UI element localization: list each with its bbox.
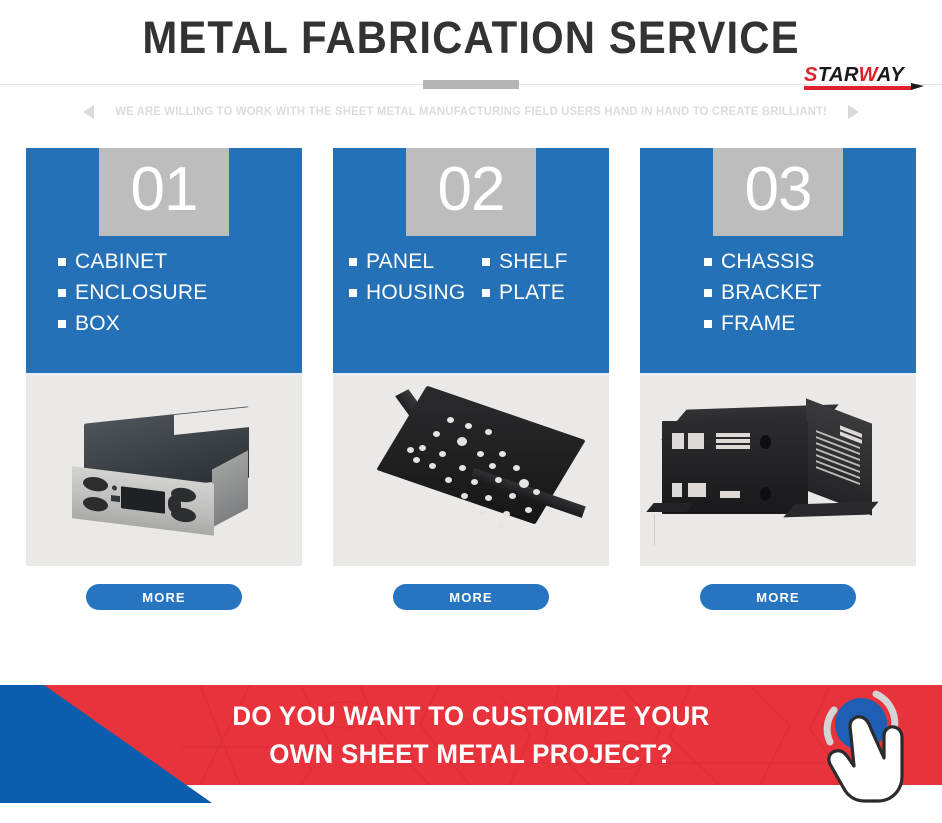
list-item: BRACKET <box>704 281 916 305</box>
list-item: BOX <box>58 312 302 336</box>
marquee-text: WE ARE WILLING TO WORK WITH THE SHEET ME… <box>115 106 827 118</box>
panel-hole <box>461 493 468 499</box>
square-bullet-icon <box>482 289 490 297</box>
panel-hole <box>407 447 414 453</box>
panel-hole <box>525 507 532 513</box>
panel-hole <box>413 457 420 463</box>
panel-hole <box>439 451 446 457</box>
banner-headline: DO YOU WANT TO CUSTOMIZE YOUR OWN SHEET … <box>19 697 923 773</box>
card-cta-02: MORE <box>333 566 609 610</box>
more-button-02[interactable]: MORE <box>393 584 549 610</box>
brand-wordmark: STARWAY <box>804 65 904 85</box>
marquee-bar: WE ARE WILLING TO WORK WITH THE SHEET ME… <box>0 96 942 128</box>
panel-hole <box>471 479 478 485</box>
panel-hole <box>485 429 492 435</box>
cta-banner[interactable]: DO YOU WANT TO CUSTOMIZE YOUR OWN SHEET … <box>0 668 942 823</box>
panel-slot <box>121 486 165 513</box>
list-item-label: CABINET <box>75 250 167 274</box>
product-image-02 <box>333 373 609 566</box>
square-bullet-icon <box>58 258 66 266</box>
list-item: FRAME <box>704 312 916 336</box>
starway-logo: STARWAY <box>804 65 912 90</box>
card-header-03: 03 CHASSIS BRACKET FRAME <box>640 148 916 373</box>
list-item-label: BOX <box>75 312 120 336</box>
divider-tab <box>423 80 519 89</box>
list-item: CABINET <box>58 250 302 274</box>
panel-hole <box>433 431 440 437</box>
header-divider <box>0 80 942 92</box>
page-header: METAL FABRICATION SERVICE STARWAY <box>0 0 942 96</box>
square-bullet-icon <box>704 320 712 328</box>
chassis-vent-slot <box>716 445 750 449</box>
square-bullet-icon <box>349 289 357 297</box>
panel-hole <box>533 489 540 495</box>
brand-letter-w: W <box>859 64 877 86</box>
brand-letter-s: S <box>804 64 818 86</box>
panel-hole <box>477 451 484 457</box>
product-image-03 <box>640 373 916 566</box>
card-number-02: 02 <box>438 159 505 221</box>
card-number-box-02: 02 <box>406 148 536 236</box>
banner-headline-line2: OWN SHEET METAL PROJECT? <box>19 735 923 773</box>
panel-hole <box>445 477 452 483</box>
chassis-side <box>806 398 872 515</box>
chassis-wire <box>654 515 655 545</box>
card-item-list-03: CHASSIS BRACKET FRAME <box>640 236 916 336</box>
product-card-03: 03 CHASSIS BRACKET FRAME <box>640 148 916 610</box>
list-item: PANEL <box>349 250 476 274</box>
chassis-hole <box>760 487 771 501</box>
more-button-01[interactable]: MORE <box>86 584 242 610</box>
card-number-box-01: 01 <box>99 148 229 236</box>
list-item: HOUSING <box>349 281 476 305</box>
card-number-01: 01 <box>131 159 198 221</box>
card-header-01: 01 CABINET ENCLOSURE BOX <box>26 148 302 373</box>
panel-hole <box>499 451 506 457</box>
chassis-port <box>672 483 682 497</box>
panel-hole <box>519 479 529 488</box>
list-item-label: SHELF <box>499 250 568 274</box>
panel-hole <box>489 463 496 469</box>
product-image-01 <box>26 373 302 566</box>
list-item-label: FRAME <box>721 312 796 336</box>
panel-oval-hole <box>168 495 181 514</box>
page-title: METAL FABRICATION SERVICE <box>33 0 909 68</box>
panel-hole <box>485 495 492 501</box>
product-card-02: 02 PANEL SHELF HOUSING PLATE <box>333 148 609 610</box>
list-item: ENCLOSURE <box>58 281 302 305</box>
panel-dot <box>112 485 117 491</box>
card-cta-01: MORE <box>26 566 302 610</box>
square-bullet-icon <box>58 320 66 328</box>
list-item-label: ENCLOSURE <box>75 281 208 305</box>
square-bullet-icon <box>482 258 490 266</box>
panel-hole <box>509 493 516 499</box>
brand-letters-tar: TAR <box>818 64 859 86</box>
list-item-label: PLATE <box>499 281 565 305</box>
product-card-list: 01 CABINET ENCLOSURE BOX <box>0 128 942 610</box>
product-card-01: 01 CABINET ENCLOSURE BOX <box>26 148 302 610</box>
panel-hole <box>447 417 454 423</box>
panel-hole <box>479 509 486 515</box>
list-item-label: CHASSIS <box>721 250 815 274</box>
chassis-hole <box>760 435 771 449</box>
banner-headline-line1: DO YOU WANT TO CUSTOMIZE YOUR <box>19 697 923 735</box>
square-bullet-icon <box>704 289 712 297</box>
card-cta-03: MORE <box>640 566 916 610</box>
list-item-label: BRACKET <box>721 281 822 305</box>
panel-hole <box>503 511 510 517</box>
list-item-label: HOUSING <box>366 281 465 305</box>
square-bullet-icon <box>349 258 357 266</box>
brand-letters-ay: AY <box>877 64 904 86</box>
list-item-label: PANEL <box>366 250 434 274</box>
chassis-vent-slot <box>716 439 750 443</box>
chassis-foot-right <box>783 502 878 518</box>
click-hand-cursor-icon[interactable] <box>814 684 922 809</box>
list-item: PLATE <box>482 281 609 305</box>
chassis-foot-left <box>646 503 694 512</box>
square-bullet-icon <box>58 289 66 297</box>
card-item-list-02: PANEL SHELF HOUSING PLATE <box>333 236 609 305</box>
perforated-panel <box>373 401 573 541</box>
panel-hole <box>457 437 467 446</box>
panel-hole <box>465 423 472 429</box>
list-item: SHELF <box>482 250 609 274</box>
square-bullet-icon <box>704 258 712 266</box>
next-arrow-icon[interactable] <box>848 105 859 119</box>
panel-hole <box>429 463 436 469</box>
chassis-port <box>720 491 740 498</box>
chassis-vent-slot <box>716 433 750 437</box>
chassis-port <box>688 483 706 497</box>
chassis-port <box>688 433 704 449</box>
panel-hole <box>513 465 520 471</box>
prev-arrow-icon[interactable] <box>83 105 94 119</box>
list-item: CHASSIS <box>704 250 916 274</box>
panel-hole <box>459 465 466 471</box>
more-button-03[interactable]: MORE <box>700 584 856 610</box>
chassis-front <box>662 421 808 514</box>
chassis-port <box>672 433 684 449</box>
panel-hole <box>495 477 502 483</box>
panel-hole <box>497 523 504 529</box>
card-header-02: 02 PANEL SHELF HOUSING PLATE <box>333 148 609 373</box>
panel-small-slot <box>111 495 120 502</box>
card-number-box-03: 03 <box>713 148 843 236</box>
panel-hole <box>83 476 108 493</box>
brand-underline-bar <box>804 86 912 90</box>
card-item-list-01: CABINET ENCLOSURE BOX <box>26 236 302 336</box>
panel-hole <box>83 496 108 513</box>
panel-hole <box>419 445 426 451</box>
card-number-03: 03 <box>745 159 812 221</box>
